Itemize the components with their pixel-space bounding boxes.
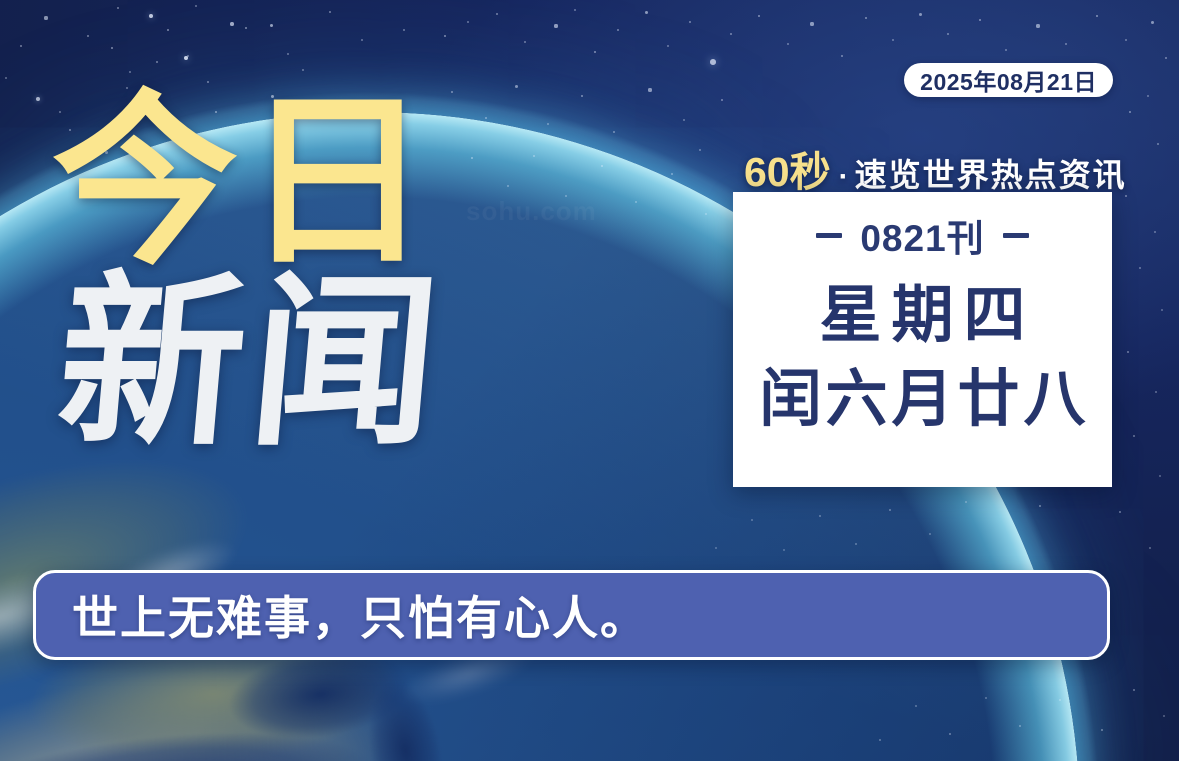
title-line-today: 今日 [52, 96, 472, 267]
star [1133, 435, 1135, 437]
issue-number-row: 0821刊 [816, 208, 1028, 262]
star [1159, 475, 1161, 477]
star [671, 173, 673, 175]
dash-right-icon [1003, 233, 1029, 238]
star [329, 11, 331, 13]
star [1036, 24, 1039, 27]
star [648, 88, 651, 91]
star [111, 47, 114, 50]
star [730, 33, 732, 35]
star [167, 29, 170, 32]
star [507, 185, 509, 187]
star [1165, 57, 1167, 59]
poster-title: 今日 新闻 [52, 96, 472, 448]
star [721, 99, 724, 102]
star [195, 5, 197, 7]
lunar-date-label: 闰六月廿八 [755, 368, 1089, 430]
star [1119, 511, 1122, 514]
star [715, 547, 717, 549]
star [574, 9, 576, 11]
star [451, 91, 454, 94]
star [1157, 143, 1159, 145]
star [554, 24, 557, 27]
star [667, 45, 669, 47]
news-poster: sohu.com 今日 新闻 2025年08月21日 60秒 · 速览世界热点资… [0, 0, 1179, 761]
star [865, 17, 868, 20]
star [361, 39, 363, 41]
star [919, 13, 922, 16]
star [270, 24, 273, 27]
star [819, 515, 821, 517]
star [1155, 391, 1157, 393]
star [5, 77, 7, 79]
star [581, 95, 584, 98]
star [787, 43, 789, 45]
star [403, 29, 405, 31]
star [1154, 231, 1156, 233]
tagline-duration: 60秒 [744, 138, 831, 198]
star [149, 14, 153, 18]
star [36, 97, 40, 101]
star [699, 149, 701, 151]
star [758, 15, 761, 18]
star [515, 85, 518, 88]
star [705, 213, 707, 215]
star [889, 509, 892, 512]
star [485, 117, 487, 119]
star [1163, 715, 1165, 717]
star [594, 51, 597, 54]
star [156, 61, 158, 63]
star [496, 13, 499, 16]
issue-info-card: 0821刊 星期四 闰六月廿八 [733, 192, 1112, 487]
star [44, 16, 47, 19]
star [1151, 21, 1154, 24]
star [601, 165, 604, 168]
star [1149, 547, 1151, 549]
star [892, 39, 894, 41]
star [929, 533, 931, 535]
tagline-separator: · [839, 160, 849, 194]
star [810, 22, 813, 25]
star [1065, 43, 1067, 45]
star [915, 705, 917, 707]
star [965, 501, 967, 503]
star [1005, 49, 1007, 51]
date-badge: 2025年08月21日 [904, 63, 1113, 97]
star [613, 131, 615, 133]
star [855, 543, 857, 545]
star [635, 201, 637, 203]
star [87, 35, 90, 38]
tagline-description: 速览世界热点资讯 [855, 150, 1127, 196]
weekday-label: 星期四 [809, 284, 1035, 346]
star [524, 41, 526, 43]
star [1096, 15, 1099, 18]
star [287, 53, 289, 55]
star [947, 33, 949, 35]
issue-number: 0821刊 [860, 208, 984, 262]
star [689, 21, 692, 24]
star [783, 549, 785, 551]
star [683, 119, 685, 121]
star [230, 22, 234, 26]
star [1125, 39, 1127, 41]
star [444, 35, 447, 38]
star [710, 59, 716, 65]
star [1147, 95, 1149, 97]
star [1019, 725, 1021, 727]
star [1059, 699, 1061, 701]
star [879, 739, 881, 741]
star [949, 733, 952, 736]
tagline: 60秒 · 速览世界热点资讯 [744, 138, 1127, 198]
star [117, 7, 119, 9]
star [841, 55, 843, 57]
star [1139, 267, 1141, 269]
star [645, 11, 648, 14]
title-line-news: 新闻 [52, 277, 487, 448]
quote-text: 世上无难事，只怕有心人。 [72, 582, 648, 648]
star [1129, 111, 1132, 114]
dash-left-icon [816, 233, 842, 238]
star [20, 45, 23, 48]
star [617, 29, 619, 31]
quote-bar: 世上无难事，只怕有心人。 [33, 570, 1110, 660]
star [245, 27, 248, 30]
star [1039, 505, 1042, 508]
star [467, 21, 469, 23]
star [547, 123, 549, 125]
star [985, 697, 987, 699]
star [187, 55, 189, 57]
star [751, 519, 753, 521]
star [533, 155, 535, 157]
watermark: sohu.com [466, 196, 597, 227]
star [1133, 689, 1135, 691]
star [1101, 729, 1104, 732]
star [979, 19, 982, 22]
star [1127, 351, 1130, 354]
star [302, 69, 304, 71]
star [1161, 309, 1163, 311]
